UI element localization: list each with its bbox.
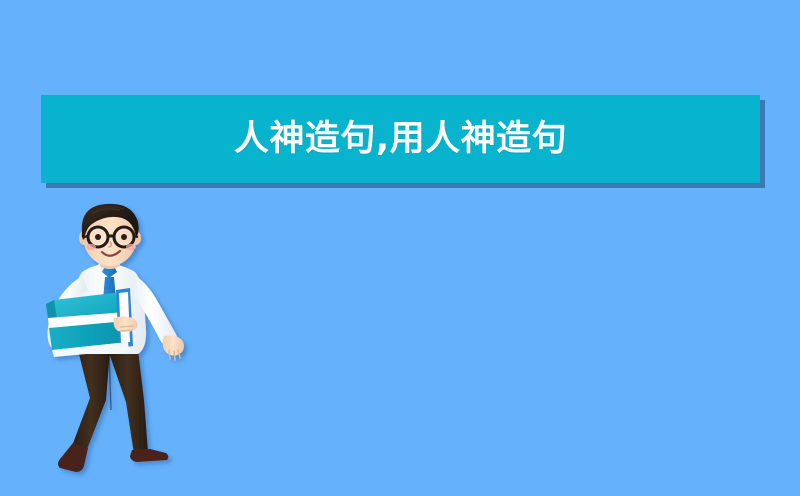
shoes [58, 443, 168, 472]
head [79, 204, 141, 266]
businessman-illustration [30, 200, 205, 496]
character-body [46, 204, 184, 472]
page-title: 人神造句,用人神造句 [234, 122, 567, 157]
legs [72, 350, 148, 454]
title-banner: 人神造句,用人神造句 [41, 95, 760, 183]
page-canvas: 人神造句,用人神造句 [0, 0, 800, 496]
